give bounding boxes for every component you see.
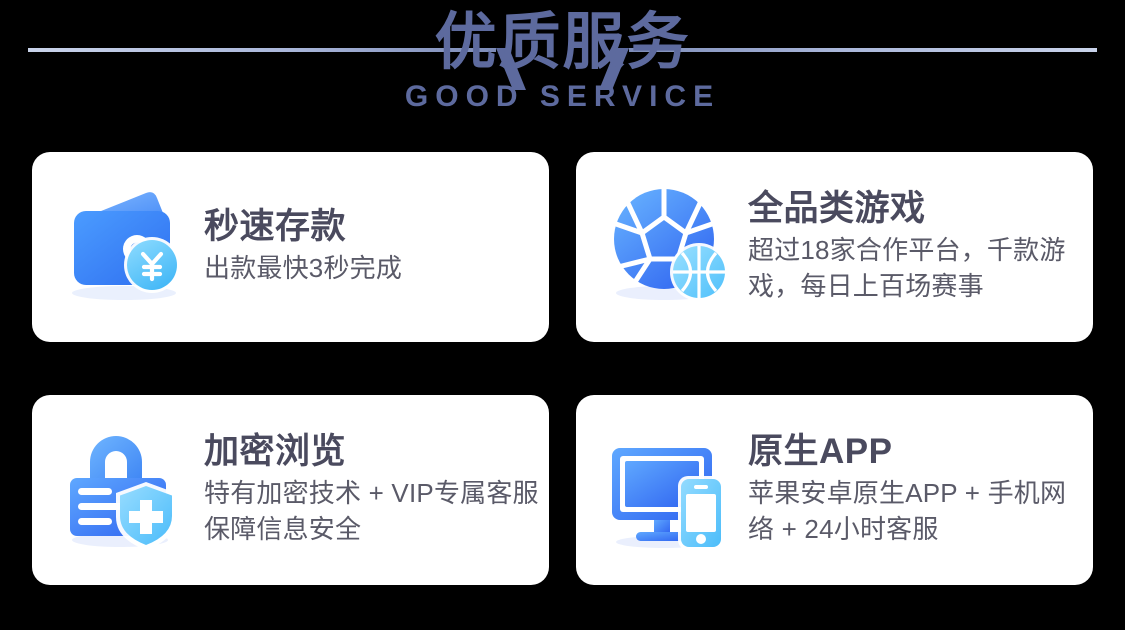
feature-card-subtitle: 苹果安卓原生APP + 手机网络 + 24小时客服 [748,476,1083,548]
feature-card-text: 全品类游戏 超过18家合作平台，千款游戏，每日上百场赛事 [742,189,1093,305]
feature-card-title: 秒速存款 [204,207,402,247]
feature-card-deposit[interactable]: 秒速存款 出款最快3秒完成 [32,152,549,342]
soccer-basketball-icon [602,177,742,317]
feature-card-title: 原生APP [748,432,1083,472]
lock-shield-icon [58,420,198,560]
feature-card-encryption[interactable]: 加密浏览 特有加密技术 + VIP专属客服保障信息安全 [32,395,549,585]
feature-card-text: 秒速存款 出款最快3秒完成 [198,207,412,287]
feature-card-subtitle: 特有加密技术 + VIP专属客服保障信息安全 [204,476,539,548]
feature-card-title: 全品类游戏 [748,189,1083,229]
wallet-yen-icon [58,177,198,317]
feature-card-subtitle: 超过18家合作平台，千款游戏，每日上百场赛事 [748,233,1083,305]
page-header: 优质服务 GOOD SERVICE [0,0,1125,140]
feature-card-text: 原生APP 苹果安卓原生APP + 手机网络 + 24小时客服 [742,432,1093,548]
feature-card-title: 加密浏览 [204,432,539,472]
feature-card-grid: 秒速存款 出款最快3秒完成 [32,152,1093,585]
page-title: 优质服务 [0,12,1125,74]
feature-card-games[interactable]: 全品类游戏 超过18家合作平台，千款游戏，每日上百场赛事 [576,152,1093,342]
feature-card-native-app[interactable]: 原生APP 苹果安卓原生APP + 手机网络 + 24小时客服 [576,395,1093,585]
monitor-phone-icon [602,420,742,560]
page-subtitle: GOOD SERVICE [0,80,1125,114]
feature-card-text: 加密浏览 特有加密技术 + VIP专属客服保障信息安全 [198,432,549,548]
feature-card-subtitle: 出款最快3秒完成 [204,251,402,287]
